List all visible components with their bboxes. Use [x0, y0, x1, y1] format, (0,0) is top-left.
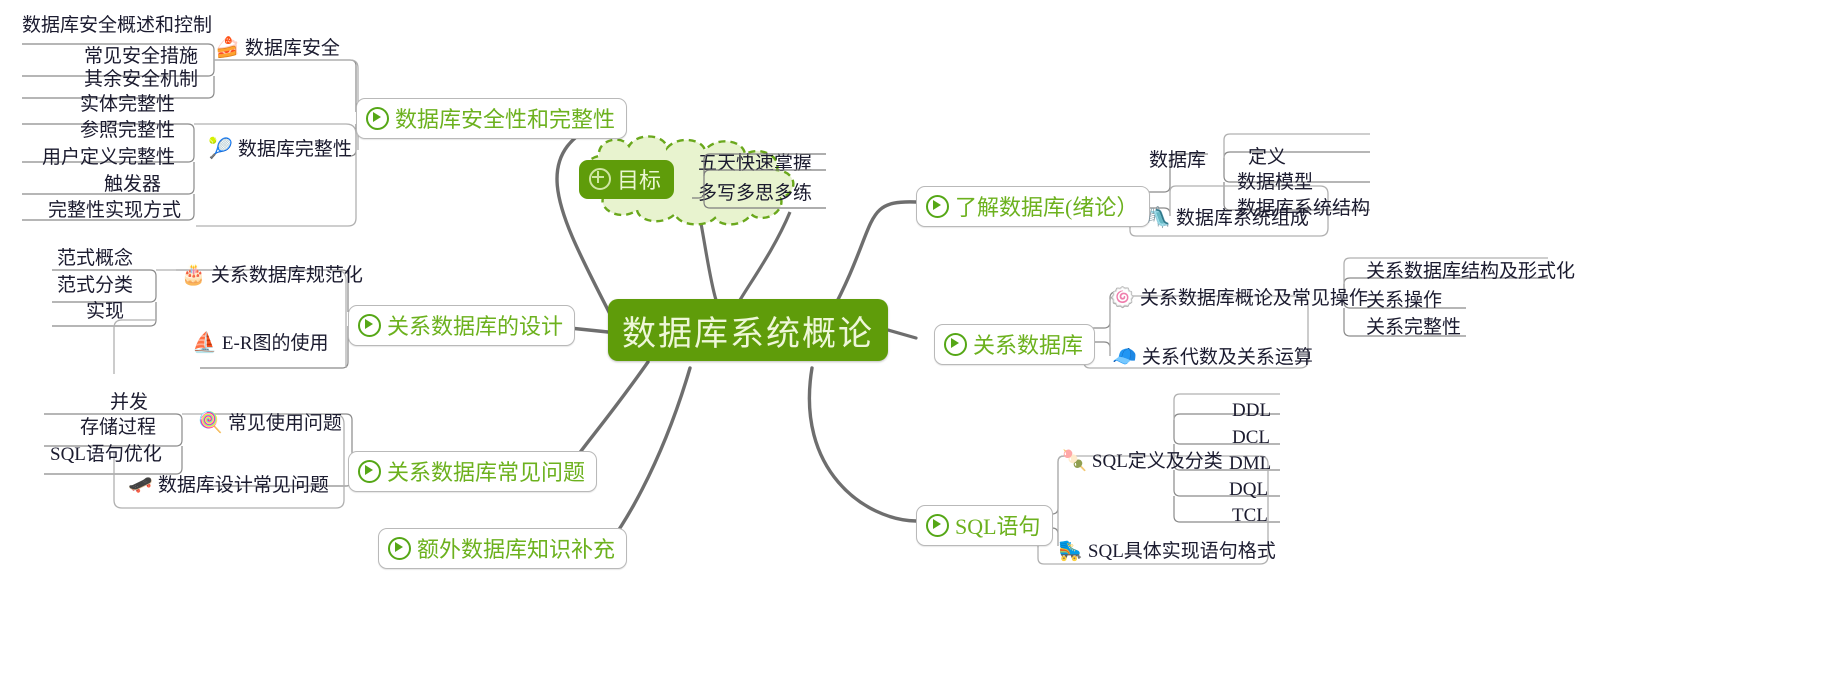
main-topic-label: 关系数据库 — [973, 328, 1083, 360]
main-topic-label: 额外数据库知识补充 — [417, 532, 615, 564]
child-normalization-2[interactable]: 实现 — [86, 296, 124, 323]
treadmill-icon: 🛝 — [1146, 207, 1171, 227]
child-db-integrity-1[interactable]: 参照完整性 — [80, 115, 175, 142]
child-relational-0[interactable]: 关系数据库结构及形式化 — [1366, 256, 1575, 283]
play-icon — [926, 514, 949, 537]
main-topic-label: 关系数据库的设计 — [387, 309, 563, 341]
child-common-usage-1[interactable]: 存储过程 — [80, 412, 156, 439]
subtopic-sql-syntax[interactable]: 🛼 SQL具体实现语句格式 — [1058, 536, 1276, 563]
child-database-1[interactable]: 数据模型 — [1237, 167, 1313, 194]
target-icon — [589, 168, 611, 190]
play-icon — [926, 195, 949, 218]
subtopic-normalization[interactable]: 🎂 关系数据库规范化 — [181, 260, 363, 287]
subtopic-label: 关系数据库概论及常见操作 — [1140, 283, 1368, 310]
child-db-integrity-0[interactable]: 实体完整性 — [80, 89, 175, 116]
child-sql-1[interactable]: DCL — [1232, 427, 1270, 449]
child-normalization-0[interactable]: 范式概念 — [57, 243, 133, 270]
subtopic-sql-definition[interactable]: 🍡 SQL定义及分类 — [1062, 446, 1223, 473]
child-common-usage-0[interactable]: 并发 — [110, 387, 148, 414]
child-sql-2[interactable]: DML — [1229, 453, 1271, 475]
main-topic-relational[interactable]: 关系数据库 — [934, 324, 1095, 365]
main-topic-label: 数据库安全性和完整性 — [395, 102, 615, 134]
goal-label: 目标 — [617, 163, 661, 195]
main-topic-design[interactable]: 关系数据库的设计 — [348, 305, 575, 346]
subtopic-label: 常见使用问题 — [228, 408, 342, 435]
play-icon — [366, 107, 389, 130]
rollerblade-icon: 🛼 — [1058, 540, 1083, 560]
main-topic-security[interactable]: 数据库安全性和完整性 — [356, 98, 627, 139]
cake-fruit-icon: 🎂 — [181, 264, 206, 284]
child-relational-2[interactable]: 关系完整性 — [1366, 312, 1461, 339]
child-sql-0[interactable]: DDL — [1232, 400, 1271, 422]
play-icon — [944, 333, 967, 356]
child-db-integrity-2[interactable]: 用户定义完整性 — [42, 142, 175, 169]
play-icon — [358, 314, 381, 337]
subtopic-database[interactable]: 数据库 — [1149, 145, 1206, 172]
main-topic-label: 关系数据库常见问题 — [387, 455, 585, 487]
cap-icon: 🧢 — [1112, 346, 1137, 366]
subtopic-label: 数据库设计常见问题 — [158, 470, 329, 497]
subtopic-label: SQL具体实现语句格式 — [1088, 536, 1276, 563]
subtopic-db-integrity[interactable]: 🎾 数据库完整性 — [208, 134, 352, 161]
subtopic-db-security[interactable]: 🍰 数据库安全 — [215, 33, 340, 60]
subtopic-er-diagram[interactable]: ⛵ E-R图的使用 — [192, 328, 329, 355]
subtopic-label: 数据库系统组成 — [1176, 203, 1309, 230]
subtopic-db-system-composition[interactable]: 🛝 数据库系统组成 — [1146, 203, 1309, 230]
subtopic-label: 数据库完整性 — [238, 134, 352, 161]
child-sql-4[interactable]: TCL — [1232, 505, 1268, 527]
main-topic-extra[interactable]: 额外数据库知识补充 — [378, 528, 627, 569]
main-topic-sql[interactable]: SQL语句 — [916, 505, 1053, 546]
skateboard-icon: 🛹 — [128, 474, 153, 494]
central-topic[interactable]: 数据库系统概论 — [608, 299, 888, 361]
play-icon — [388, 537, 411, 560]
subtopic-relational-algebra[interactable]: 🧢 关系代数及关系运算 — [1112, 342, 1313, 369]
main-topic-problems[interactable]: 关系数据库常见问题 — [348, 451, 597, 492]
child-sql-3[interactable]: DQL — [1229, 479, 1268, 501]
main-topic-intro[interactable]: 了解数据库(绪论） — [916, 186, 1150, 227]
subtopic-label: 关系代数及关系运算 — [1142, 342, 1313, 369]
subtopic-design-problems[interactable]: 🛹 数据库设计常见问题 — [128, 470, 329, 497]
child-db-integrity-3[interactable]: 触发器 — [104, 169, 161, 196]
play-icon — [358, 460, 381, 483]
child-database-0[interactable]: 定义 — [1248, 142, 1286, 169]
cloud-organizer-lines — [692, 140, 832, 220]
spiral-candy-icon: 🍭 — [198, 412, 223, 432]
child-relational-1[interactable]: 关系操作 — [1366, 285, 1442, 312]
swiss-roll-icon: 🍡 — [1062, 450, 1087, 470]
subtopic-label: 数据库安全 — [245, 33, 340, 60]
subtopic-label: 关系数据库规范化 — [211, 260, 363, 287]
subtopic-label: SQL定义及分类 — [1092, 446, 1223, 473]
main-topic-label: 了解数据库(绪论） — [955, 190, 1138, 222]
child-normalization-1[interactable]: 范式分类 — [57, 270, 133, 297]
goal-cloud: 目标 五天快速掌握 多写多思多练 — [565, 130, 835, 235]
subtopic-common-usage[interactable]: 🍭 常见使用问题 — [198, 408, 342, 435]
child-db-security-2[interactable]: 其余安全机制 — [84, 64, 198, 91]
tennis-racket-icon: 🎾 — [208, 138, 233, 158]
child-common-usage-2[interactable]: SQL语句优化 — [50, 439, 162, 466]
child-db-security-0[interactable]: 数据库安全概述和控制 — [22, 10, 212, 37]
subtopic-relational-overview[interactable]: 🍥 关系数据库概论及常见操作 — [1110, 283, 1368, 310]
main-topic-label: SQL语句 — [955, 509, 1041, 541]
child-db-integrity-4[interactable]: 完整性实现方式 — [48, 195, 181, 222]
cake-icon: 🍰 — [215, 37, 240, 57]
mindmap-canvas: 数据库系统概论 目标 五天快速掌握 多写多思多练 数据库安全性和完整性 关系数据… — [0, 0, 1836, 681]
subtopic-label: E-R图的使用 — [222, 328, 329, 355]
goal-node[interactable]: 目标 — [579, 160, 674, 199]
sailboat-icon: ⛵ — [192, 332, 217, 352]
lollipop-icon: 🍥 — [1110, 287, 1135, 307]
